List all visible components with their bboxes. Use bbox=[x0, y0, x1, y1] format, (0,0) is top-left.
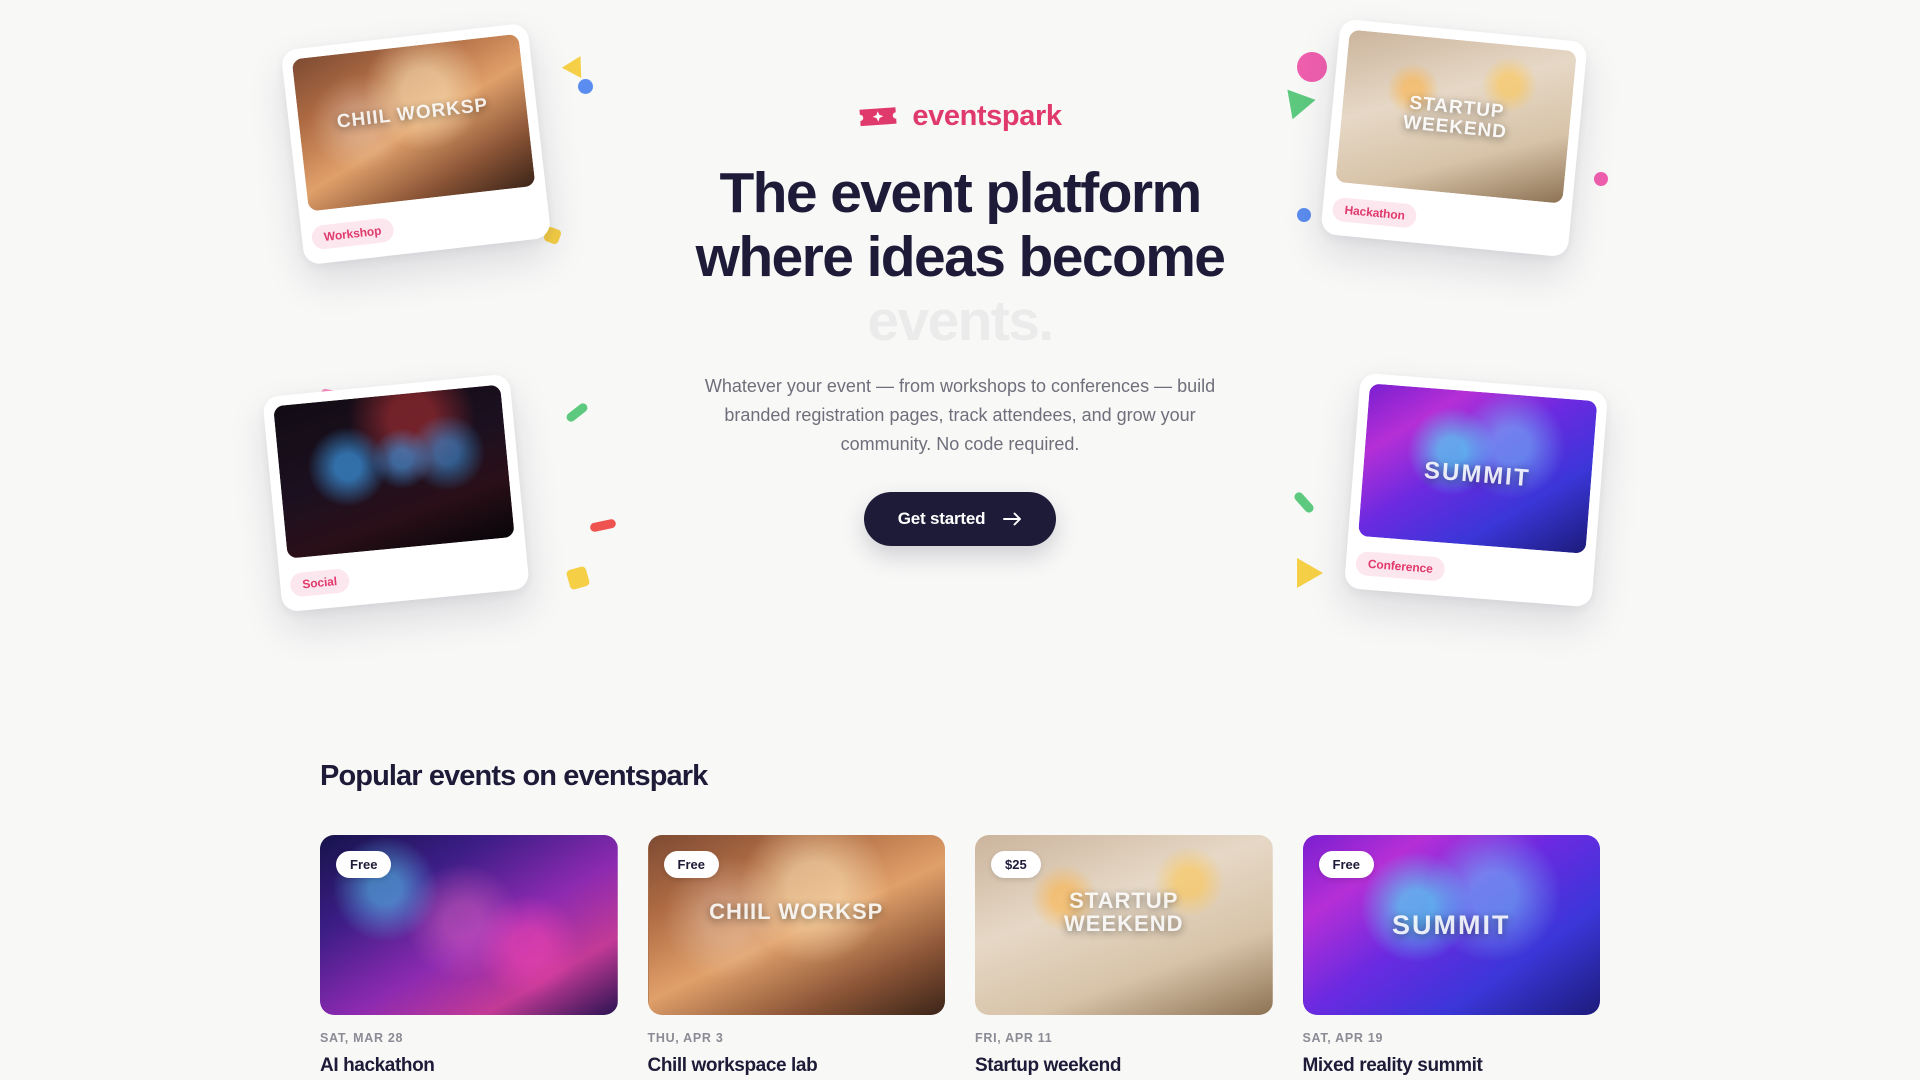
event-thumbnail: STARTUP WEEKEND $25 bbox=[975, 835, 1273, 1015]
price-badge: Free bbox=[664, 851, 719, 878]
thumbnail-overlay-text: STARTUP WEEKEND bbox=[975, 889, 1273, 935]
price-badge: $25 bbox=[991, 851, 1041, 878]
price-badge: Free bbox=[336, 851, 391, 878]
decor-circle-blue bbox=[578, 79, 593, 94]
section-title: Popular events on eventspark bbox=[320, 760, 1600, 793]
section-inner: Popular events on eventspark Free SAT, M… bbox=[320, 760, 1600, 1079]
thumbnail-overlay-text: SUMMIT bbox=[1303, 911, 1601, 939]
event-card[interactable]: STARTUP WEEKEND $25 FRI, APR 11 Startup … bbox=[975, 835, 1273, 1079]
headline-line-1: The event platform bbox=[0, 162, 1920, 226]
event-date: SAT, MAR 28 bbox=[320, 1031, 618, 1045]
event-card[interactable]: CHIIL WORKSP Free THU, APR 3 Chill works… bbox=[648, 835, 946, 1079]
hero-section: CHIIL WORKSP Workshop STARTUP WEEKEND Ha… bbox=[0, 0, 1920, 680]
headline-line-3-animated: events. bbox=[0, 290, 1920, 354]
event-card[interactable]: Free SAT, MAR 28 AI hackathon bbox=[320, 835, 618, 1079]
event-title: AI hackathon bbox=[320, 1054, 618, 1079]
event-date: THU, APR 3 bbox=[648, 1031, 946, 1045]
hero-subtitle: Whatever your event — from workshops to … bbox=[700, 372, 1220, 459]
event-thumbnail: Free bbox=[320, 835, 618, 1015]
event-date: SAT, APR 19 bbox=[1303, 1031, 1601, 1045]
event-date: FRI, APR 11 bbox=[975, 1031, 1273, 1045]
get-started-button[interactable]: Get started bbox=[864, 492, 1057, 546]
brand-name: eventspark bbox=[912, 100, 1061, 133]
event-thumbnail: SUMMIT Free bbox=[1303, 835, 1601, 1015]
floating-card-conference[interactable]: SUMMIT Conference bbox=[1344, 373, 1608, 608]
decor-bar-green bbox=[565, 402, 589, 424]
decor-triangle-yellow bbox=[562, 51, 590, 78]
event-card[interactable]: SUMMIT Free SAT, APR 19 Mixed reality su… bbox=[1303, 835, 1601, 1079]
event-title: Chill workspace lab bbox=[648, 1054, 946, 1079]
decor-triangle-yellow-conf bbox=[1297, 558, 1323, 588]
decor-square-yellow bbox=[566, 566, 591, 591]
thumbnail-overlay-text: CHIIL WORKSP bbox=[648, 900, 946, 923]
brand-logo[interactable]: eventspark bbox=[0, 100, 1920, 133]
category-pill-conference: Conference bbox=[1355, 550, 1446, 581]
event-title: Mixed reality summit bbox=[1303, 1054, 1601, 1079]
get-started-label: Get started bbox=[898, 509, 986, 529]
thumbnail-overlay-text bbox=[279, 442, 506, 464]
events-grid: Free SAT, MAR 28 AI hackathon CHIIL WORK… bbox=[320, 835, 1600, 1079]
event-thumbnail: CHIIL WORKSP Free bbox=[648, 835, 946, 1015]
decor-circle-magenta bbox=[1297, 52, 1327, 82]
cta-container: Get started bbox=[0, 492, 1920, 546]
popular-events-section: Popular events on eventspark Free SAT, M… bbox=[0, 760, 1920, 1079]
headline-line-2: where ideas become bbox=[0, 226, 1920, 290]
arrow-right-icon bbox=[1003, 512, 1022, 526]
thumbnail-overlay-text: SUMMIT bbox=[1363, 454, 1592, 497]
page-title: The event platform where ideas become ev… bbox=[0, 162, 1920, 353]
price-badge: Free bbox=[1319, 851, 1374, 878]
event-title: Startup weekend bbox=[975, 1054, 1273, 1079]
category-pill-social: Social bbox=[289, 567, 350, 597]
landing-page: CHIIL WORKSP Workshop STARTUP WEEKEND Ha… bbox=[0, 0, 1920, 1080]
ticket-sparkle-icon bbox=[858, 103, 898, 130]
